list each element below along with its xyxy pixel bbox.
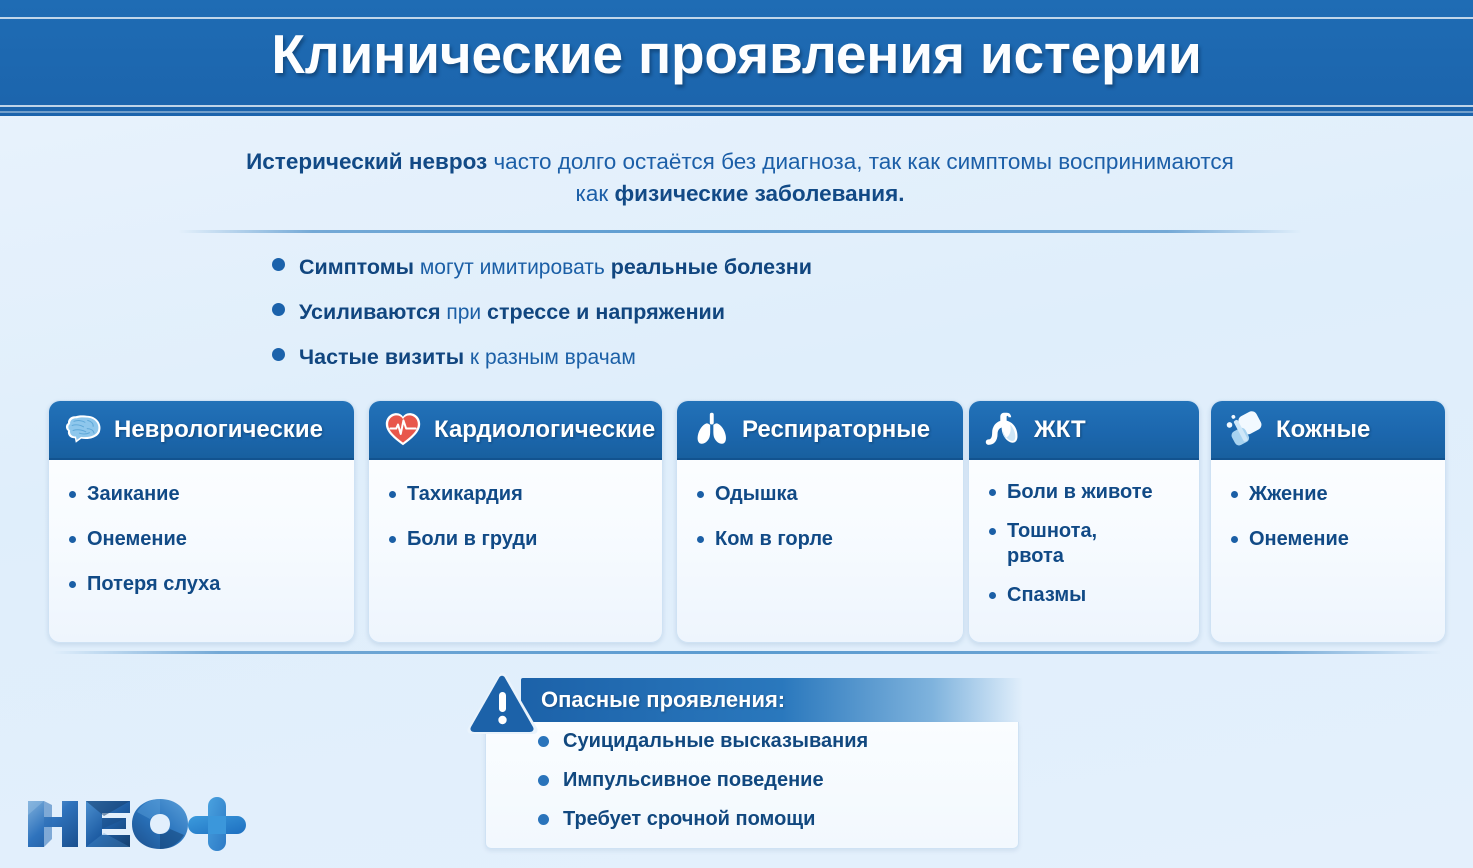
bullet-dot-icon	[697, 536, 704, 543]
key-point-item: Частые визиты к разным врачам	[272, 344, 1172, 389]
bullet-dot-icon	[697, 491, 704, 498]
card-header: Неврологические	[49, 401, 354, 460]
page-header: Клинические проявления истерии	[0, 0, 1473, 116]
divider-top	[178, 230, 1302, 233]
danger-callout-body: Суицидальные высказывания Импульсивное п…	[485, 722, 1019, 849]
card-list-item: Ком в горле	[697, 527, 949, 552]
key-point-item: Симптомы могут имитировать реальные боле…	[272, 254, 1172, 299]
bullet-dot-icon	[1231, 536, 1238, 543]
bullet-dot-icon	[389, 491, 396, 498]
card-list-item: Заикание	[69, 482, 340, 507]
bullet-dot-icon	[69, 536, 76, 543]
card-title: Респираторные	[742, 416, 930, 444]
header-rule-bottom	[0, 105, 1473, 107]
bullet-dot-icon	[272, 258, 285, 271]
intro-bold-term-2: физические заболевания.	[614, 181, 904, 206]
danger-callout: Опасные проявления: Суицидальные высказы…	[463, 668, 1023, 858]
card-list-item: Потеря слуха	[69, 572, 340, 597]
page-title: Клинические проявления истерии	[0, 22, 1473, 86]
card-body: Тахикардия Боли в груди	[369, 460, 662, 552]
intro-line1-rest: часто долго остаётся без диагноза, так к…	[487, 149, 1234, 174]
key-point-mid: могут имитировать	[414, 256, 611, 279]
card-header: Кардиологические	[369, 401, 662, 460]
card-title: Кардиологические	[434, 416, 655, 444]
danger-list-item: Требует срочной помощи	[486, 800, 1018, 839]
brain-icon	[63, 410, 105, 450]
card-list-item: Боли в животе	[989, 480, 1185, 505]
intro-bold-term: Истерический невроз	[246, 149, 487, 174]
heart-ecg-icon	[383, 410, 425, 450]
bullet-dot-icon	[272, 303, 285, 316]
card-title: Кожные	[1276, 416, 1370, 444]
bullet-dot-icon	[538, 736, 549, 747]
card-list-item: Спазмы	[989, 583, 1185, 608]
header-rule-top	[0, 17, 1473, 19]
header-rule-bottom-secondary	[0, 111, 1473, 113]
card-list-item: Жжение	[1231, 482, 1431, 507]
bullet-dot-icon	[69, 491, 76, 498]
bullet-dot-icon	[989, 489, 996, 496]
card-list-item: Одышка	[697, 482, 949, 507]
bullet-dot-icon	[1231, 491, 1238, 498]
bullet-dot-icon	[538, 814, 549, 825]
symptom-category-cards: Неврологические Заикание Онемение Потеря…	[48, 400, 1448, 645]
key-points-list: Симптомы могут имитировать реальные боле…	[272, 254, 1172, 389]
danger-list-item: Импульсивное поведение	[486, 761, 1018, 800]
bullet-dot-icon	[989, 528, 996, 535]
card-title: Неврологические	[114, 416, 323, 444]
key-point-mid: при	[441, 301, 487, 324]
card-neurological[interactable]: Неврологические Заикание Онемение Потеря…	[48, 400, 355, 643]
bullet-dot-icon	[989, 592, 996, 599]
card-title: ЖКТ	[1034, 416, 1086, 444]
key-point-lead: Частые визиты	[299, 345, 464, 369]
skin-patch-icon	[1225, 410, 1267, 450]
key-point-tail: к разным врачам	[470, 346, 636, 369]
card-body: Одышка Ком в горле	[677, 460, 963, 552]
card-dermatological[interactable]: Кожные Жжение Онемение	[1210, 400, 1446, 643]
divider-bottom	[52, 651, 1442, 654]
neo-plus-logo	[22, 795, 272, 853]
card-body: Боли в животе Тошнота, рвота Спазмы	[969, 460, 1199, 608]
intro-line2-pre: как	[576, 181, 615, 206]
bullet-dot-icon	[272, 348, 285, 361]
key-point-item: Усиливаются при стрессе и напряжении	[272, 299, 1172, 344]
stomach-icon	[983, 410, 1025, 450]
danger-callout-title: Опасные проявления:	[541, 687, 785, 713]
key-point-emphasis: реальные болезни	[611, 255, 812, 279]
key-point-emphasis: стрессе и напряжении	[487, 300, 725, 324]
bullet-dot-icon	[389, 536, 396, 543]
danger-list-item: Суицидальные высказывания	[486, 722, 1018, 761]
card-list-item: Тошнота, рвота	[989, 519, 1185, 569]
card-body: Жжение Онемение	[1211, 460, 1445, 552]
card-list-item: Онемение	[69, 527, 340, 552]
card-header: Респираторные	[677, 401, 963, 460]
card-header: ЖКТ	[969, 401, 1199, 460]
card-respiratory[interactable]: Респираторные Одышка Ком в горле	[676, 400, 964, 643]
card-body: Заикание Онемение Потеря слуха	[49, 460, 354, 597]
card-header: Кожные	[1211, 401, 1445, 460]
key-point-lead: Усиливаются	[299, 300, 441, 324]
bullet-dot-icon	[69, 581, 76, 588]
bullet-dot-icon	[538, 775, 549, 786]
card-cardiological[interactable]: Кардиологические Тахикардия Боли в груди	[368, 400, 663, 643]
card-list-item: Боли в груди	[389, 527, 648, 552]
warning-triangle-icon	[463, 670, 545, 736]
lungs-icon	[691, 410, 733, 450]
card-gastrointestinal[interactable]: ЖКТ Боли в животе Тошнота, рвота Спазмы	[968, 400, 1200, 643]
intro-paragraph: Истерический невроз часто долго остаётся…	[150, 146, 1330, 210]
danger-callout-header: Опасные проявления:	[521, 678, 1023, 722]
card-list-item: Онемение	[1231, 527, 1431, 552]
card-list-item: Тахикардия	[389, 482, 648, 507]
key-point-lead: Симптомы	[299, 255, 414, 279]
